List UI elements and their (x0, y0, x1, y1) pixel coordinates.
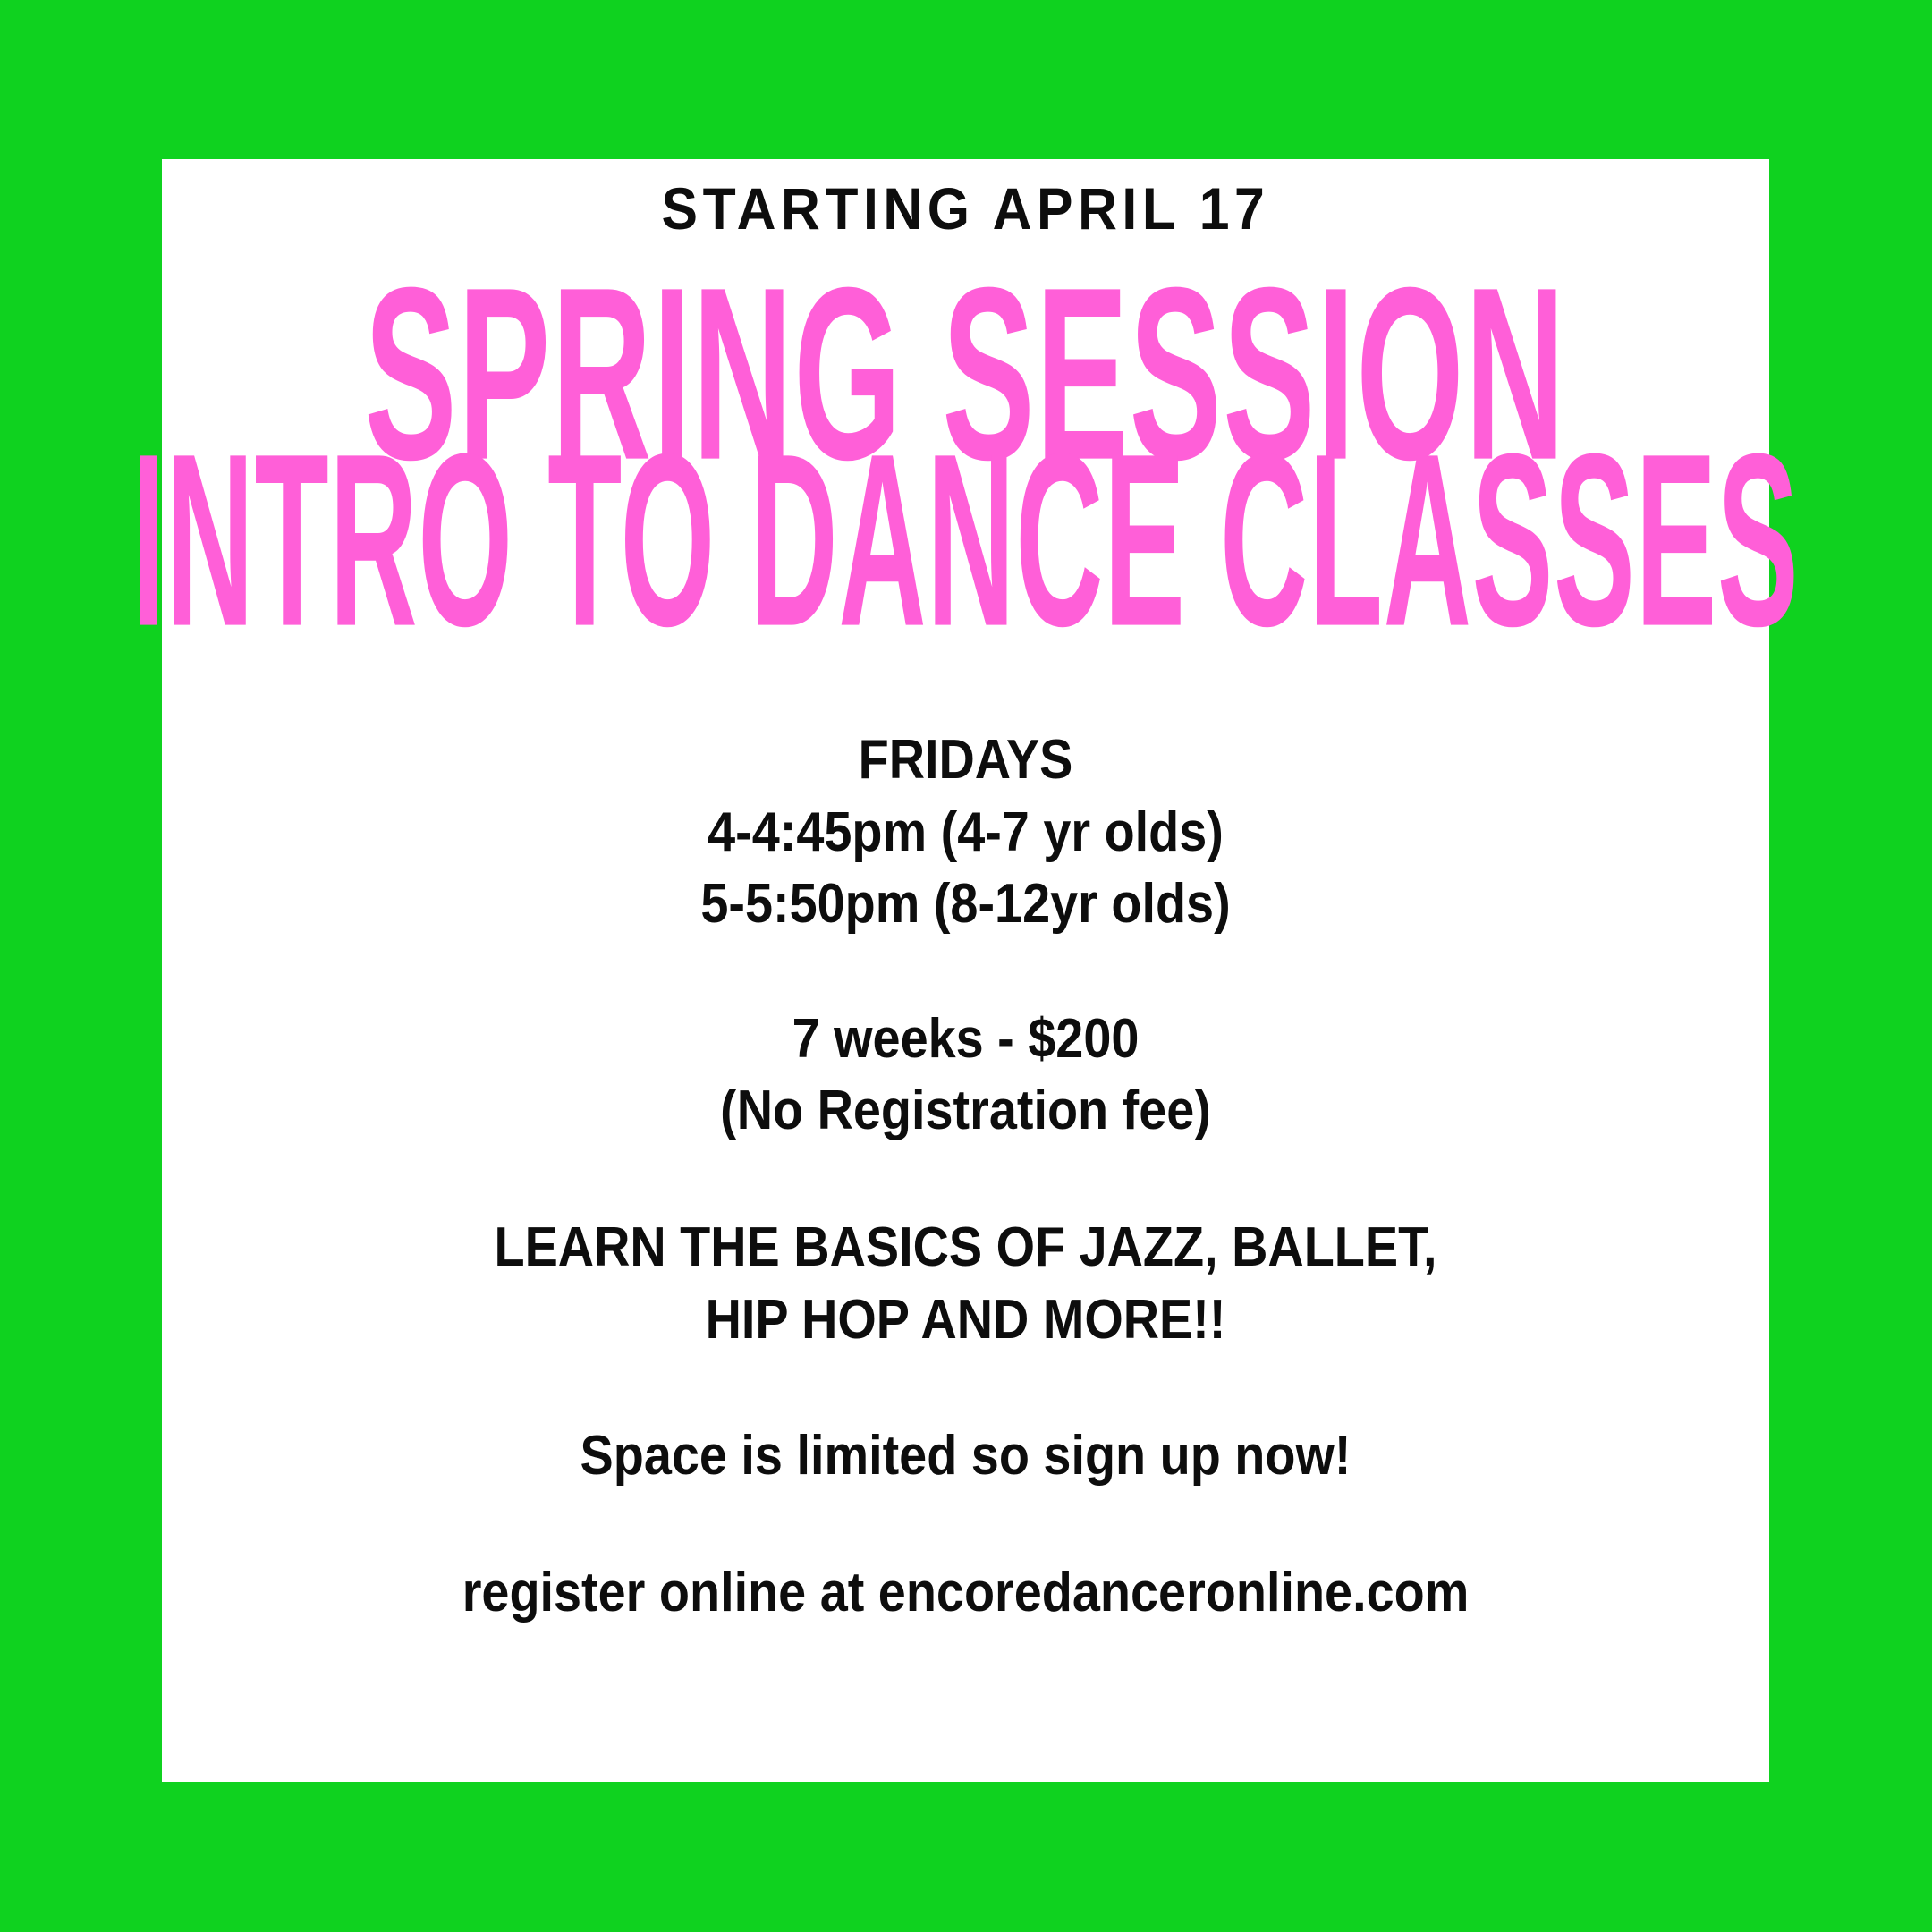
headline-line-intro-to-dance-classes: INTRO TO DANCE CLASSES (131, 432, 1799, 648)
registration-url-line[interactable]: register online at encoredanceronline.co… (242, 1557, 1689, 1630)
flyer-body-copy: FRIDAYS 4-4:45pm (4-7 yr olds) 5-5:50pm … (162, 724, 1769, 1629)
headline-group: SPRING SESSION INTRO TO DANCE CLASSES (0, 275, 1932, 639)
dance-styles-line-one: LEARN THE BASICS OF JAZZ, BALLET, (242, 1212, 1689, 1284)
registration-block: register online at encoredanceronline.co… (162, 1557, 1769, 1630)
dance-styles-block: LEARN THE BASICS OF JAZZ, BALLET, HIP HO… (162, 1212, 1769, 1356)
schedule-day: FRIDAYS (242, 724, 1689, 797)
flyer-white-panel: STARTING APRIL 17 SPRING SESSION INTRO T… (162, 159, 1769, 1782)
dance-styles-line-two: HIP HOP AND MORE!! (242, 1284, 1689, 1357)
price-amount: 7 weeks - $200 (242, 1004, 1689, 1076)
flyer-canvas: STARTING APRIL 17 SPRING SESSION INTRO T… (0, 0, 1932, 1932)
pricing-block: 7 weeks - $200 (No Registration fee) (162, 1004, 1769, 1148)
schedule-block: FRIDAYS 4-4:45pm (4-7 yr olds) 5-5:50pm … (162, 724, 1769, 941)
schedule-session-two: 5-5:50pm (8-12yr olds) (242, 869, 1689, 941)
schedule-session-one: 4-4:45pm (4-7 yr olds) (242, 797, 1689, 869)
price-registration-note: (No Registration fee) (242, 1075, 1689, 1148)
urgency-block: Space is limited so sign up now! (162, 1420, 1769, 1493)
urgency-message: Space is limited so sign up now! (242, 1420, 1689, 1493)
starting-date-kicker: STARTING APRIL 17 (662, 179, 1270, 238)
